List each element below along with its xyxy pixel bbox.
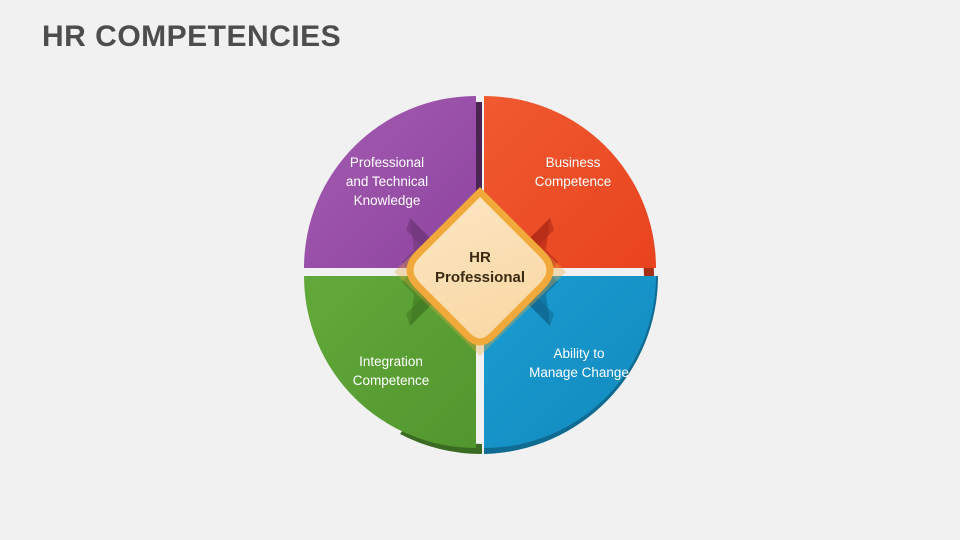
- label-line-2: and Technical: [312, 172, 462, 191]
- quadrant-top-left-label: Professional and Technical Knowledge: [312, 153, 462, 210]
- hr-competencies-diagram: Professional and Technical Knowledge Bus…: [290, 80, 670, 465]
- label-line-1: Professional: [312, 153, 462, 172]
- quadrant-bottom-left-label: Integration Competence: [316, 352, 466, 390]
- label-line-2: Manage Change: [504, 363, 654, 382]
- page-title: HR COMPETENCIES: [42, 20, 341, 54]
- quadrant-top-right-label: Business Competence: [498, 153, 648, 191]
- label-line-2: Competence: [498, 172, 648, 191]
- quadrant-bottom-right-label: Ability to Manage Change: [504, 344, 654, 382]
- label-line-1: Integration: [316, 352, 466, 371]
- label-line-1: Business: [498, 153, 648, 172]
- label-line-2: Competence: [316, 371, 466, 390]
- label-line-1: Ability to: [504, 344, 654, 363]
- label-line-3: Knowledge: [312, 191, 462, 210]
- center-diamond-label: HR Professional: [415, 248, 545, 288]
- center-label-line-2: Professional: [415, 268, 545, 288]
- center-label-line-1: HR: [415, 248, 545, 268]
